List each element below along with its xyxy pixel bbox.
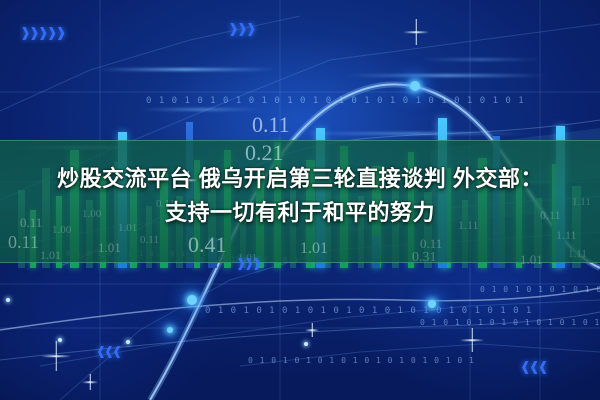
price-number: 1.11	[568, 248, 587, 260]
light-streak	[420, 58, 540, 61]
glow-node	[304, 342, 308, 346]
price-number: 1.01	[98, 240, 121, 256]
price-number: 1.01	[40, 248, 61, 263]
glow-node	[167, 327, 173, 333]
band-top-edge	[0, 140, 600, 141]
price-number: 0.11	[8, 232, 39, 253]
price-number: 1.01	[520, 252, 543, 268]
binary-digit-row: 0 1 0 1 0 1 0 1 0 1 0 1 0 1 0 1	[420, 318, 600, 327]
chevron-icon: ❰❰❰	[96, 344, 120, 358]
glow-node	[410, 81, 420, 91]
headline-line-2: 支持一切有利于和平的努力	[0, 196, 600, 230]
binary-digit-row: 0 1 0 1 0 1 0 1 0 1 0 1	[480, 285, 600, 294]
band-bottom-edge	[0, 262, 600, 263]
chevron-icon: ❰❰❰	[520, 360, 547, 375]
glow-node	[428, 300, 436, 308]
glow-node	[6, 298, 10, 302]
glow-node	[58, 338, 62, 342]
price-number: 0.11	[140, 234, 159, 246]
binary-digit-row: 0 1 0 1 0 1 0 1 0 1 0 1 0 1 0 1 0 1 0 1 …	[205, 306, 532, 316]
light-streak	[140, 108, 260, 111]
headline-text: 炒股交流平台 俄乌开启第三轮直接谈判 外交部： 支持一切有利于和平的努力	[0, 162, 600, 230]
light-streak	[346, 74, 546, 77]
binary-digit-row: 0 1 0 1 0 1 0 1 0 1 0 1 0 1 0 1 0 1 0 1	[248, 356, 475, 365]
price-number: 1.11	[556, 228, 577, 243]
chevron-icon: ❱❱❱	[228, 22, 255, 37]
headline-line-1: 炒股交流平台 俄乌开启第三轮直接谈判 外交部：	[57, 166, 543, 191]
price-number: 1.01	[300, 240, 328, 258]
price-number: 0.41	[188, 232, 227, 258]
light-streak	[96, 68, 276, 71]
binary-digit-row: 0 1 0 1 0 1 0 1 0 1 0 1 0 1 0 1 0 1 0 1 …	[146, 96, 525, 106]
chevron-icon: ❱❱❱❱❱	[20, 26, 64, 41]
chevron-icon: ❱❱❱	[236, 256, 260, 270]
glow-node	[187, 295, 197, 305]
glow-node	[126, 340, 130, 344]
price-number: 0.11	[252, 112, 290, 138]
light-streak	[300, 132, 530, 135]
news-banner-image: 0 1 0 1 0 1 0 1 0 1 0 1 0 1 0 1 0 1 0 1 …	[0, 0, 600, 400]
price-number: 0.31	[412, 250, 437, 266]
